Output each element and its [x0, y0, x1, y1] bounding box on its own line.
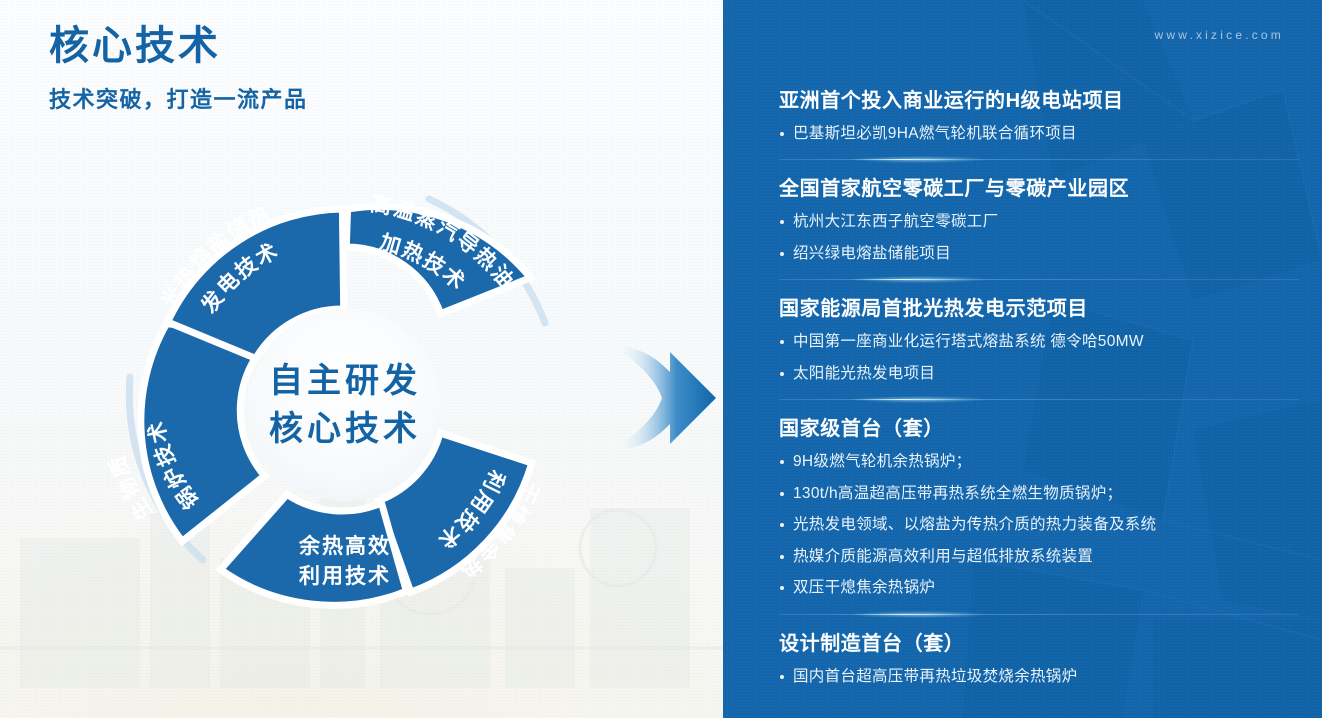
section-divider	[779, 399, 1299, 400]
list-item: 双压干熄焦余热锅炉	[779, 577, 1299, 599]
right-arrow-icon	[612, 346, 716, 450]
section-title: 国家能源局首批光热发电示范项目	[779, 296, 1299, 323]
donut-center-line1: 自主研发	[269, 362, 421, 400]
list-item: 光热发电领域、以熔盐为传热介质的热力装备及系统	[779, 514, 1299, 536]
list-item: 杭州大江东西子航空零碳工厂	[779, 211, 1299, 233]
section-title: 亚洲首个投入商业运行的H级电站项目	[779, 88, 1299, 115]
list-item: 130t/h高温超高压带再热系统全燃生物质锅炉；	[779, 483, 1299, 505]
page-subtitle: 技术突破，打造一流产品	[49, 82, 308, 114]
right-panel: www.xizice.com 亚洲首个投入商业运行的H级电站项目 巴基斯坦必凯9…	[723, 0, 1322, 718]
list-item: 巴基斯坦必凯9HA燃气轮机联合循环项目	[779, 123, 1299, 145]
section-title: 国家级首台（套）	[779, 416, 1299, 443]
section-bullets: 9H级燃气轮机余热锅炉； 130t/h高温超高压带再热系统全燃生物质锅炉； 光热…	[779, 451, 1299, 599]
achievements-list: 亚洲首个投入商业运行的H级电站项目 巴基斯坦必凯9HA燃气轮机联合循环项目 全国…	[779, 88, 1299, 697]
list-item: 太阳能光热发电项目	[779, 363, 1299, 385]
section-national-first-set: 国家级首台（套） 9H级燃气轮机余热锅炉； 130t/h高温超高压带再热系统全燃…	[779, 416, 1299, 599]
list-item: 热媒介质能源高效利用与超低排放系统装置	[779, 546, 1299, 568]
list-item: 绍兴绿电熔盐储能项目	[779, 243, 1299, 265]
section-divider	[779, 279, 1299, 280]
slide-root: 核心技术 技术突破，打造一流产品	[0, 0, 1322, 718]
section-title: 设计制造首台（套）	[779, 631, 1299, 658]
transition-arrow	[612, 338, 722, 458]
donut-center-hub	[249, 309, 441, 501]
section-bullets: 国内首台超高压带再热垃圾焚烧余热锅炉	[779, 666, 1299, 688]
donut-center-line2: 核心技术	[269, 410, 421, 448]
segment-bottom-line1: 余热高效	[298, 534, 391, 558]
list-item: 9H级燃气轮机余热锅炉；	[779, 451, 1299, 473]
page-title: 核心技术	[49, 22, 221, 70]
section-bullets: 杭州大江东西子航空零碳工厂 绍兴绿电熔盐储能项目	[779, 211, 1299, 265]
core-technology-donut: 高温蒸汽导热油 加热技术 干熄焦余热 利用技术 余热高效 利用技术 生物质 锅炉…	[60, 155, 630, 655]
section-solar-thermal-demo: 国家能源局首批光热发电示范项目 中国第一座商业化运行塔式熔盐系统 德令哈50MW…	[779, 296, 1299, 385]
list-item: 国内首台超高压带再热垃圾焚烧余热锅炉	[779, 666, 1299, 688]
list-item: 中国第一座商业化运行塔式熔盐系统 德令哈50MW	[779, 331, 1299, 353]
section-zero-carbon-factory: 全国首家航空零碳工厂与零碳产业园区 杭州大江东西子航空零碳工厂 绍兴绿电熔盐储能…	[779, 176, 1299, 265]
segment-bottom-line2: 利用技术	[299, 565, 391, 588]
site-url[interactable]: www.xizice.com	[1155, 28, 1284, 42]
section-divider	[779, 159, 1299, 160]
section-title: 全国首家航空零碳工厂与零碳产业园区	[779, 176, 1299, 203]
section-divider	[779, 614, 1299, 615]
left-panel: 核心技术 技术突破，打造一流产品	[0, 0, 723, 718]
section-asia-h-class: 亚洲首个投入商业运行的H级电站项目 巴基斯坦必凯9HA燃气轮机联合循环项目	[779, 88, 1299, 145]
section-bullets: 巴基斯坦必凯9HA燃气轮机联合循环项目	[779, 123, 1299, 145]
section-bullets: 中国第一座商业化运行塔式熔盐系统 德令哈50MW 太阳能光热发电项目	[779, 331, 1299, 385]
section-design-manufacture-first-set: 设计制造首台（套） 国内首台超高压带再热垃圾焚烧余热锅炉	[779, 631, 1299, 688]
